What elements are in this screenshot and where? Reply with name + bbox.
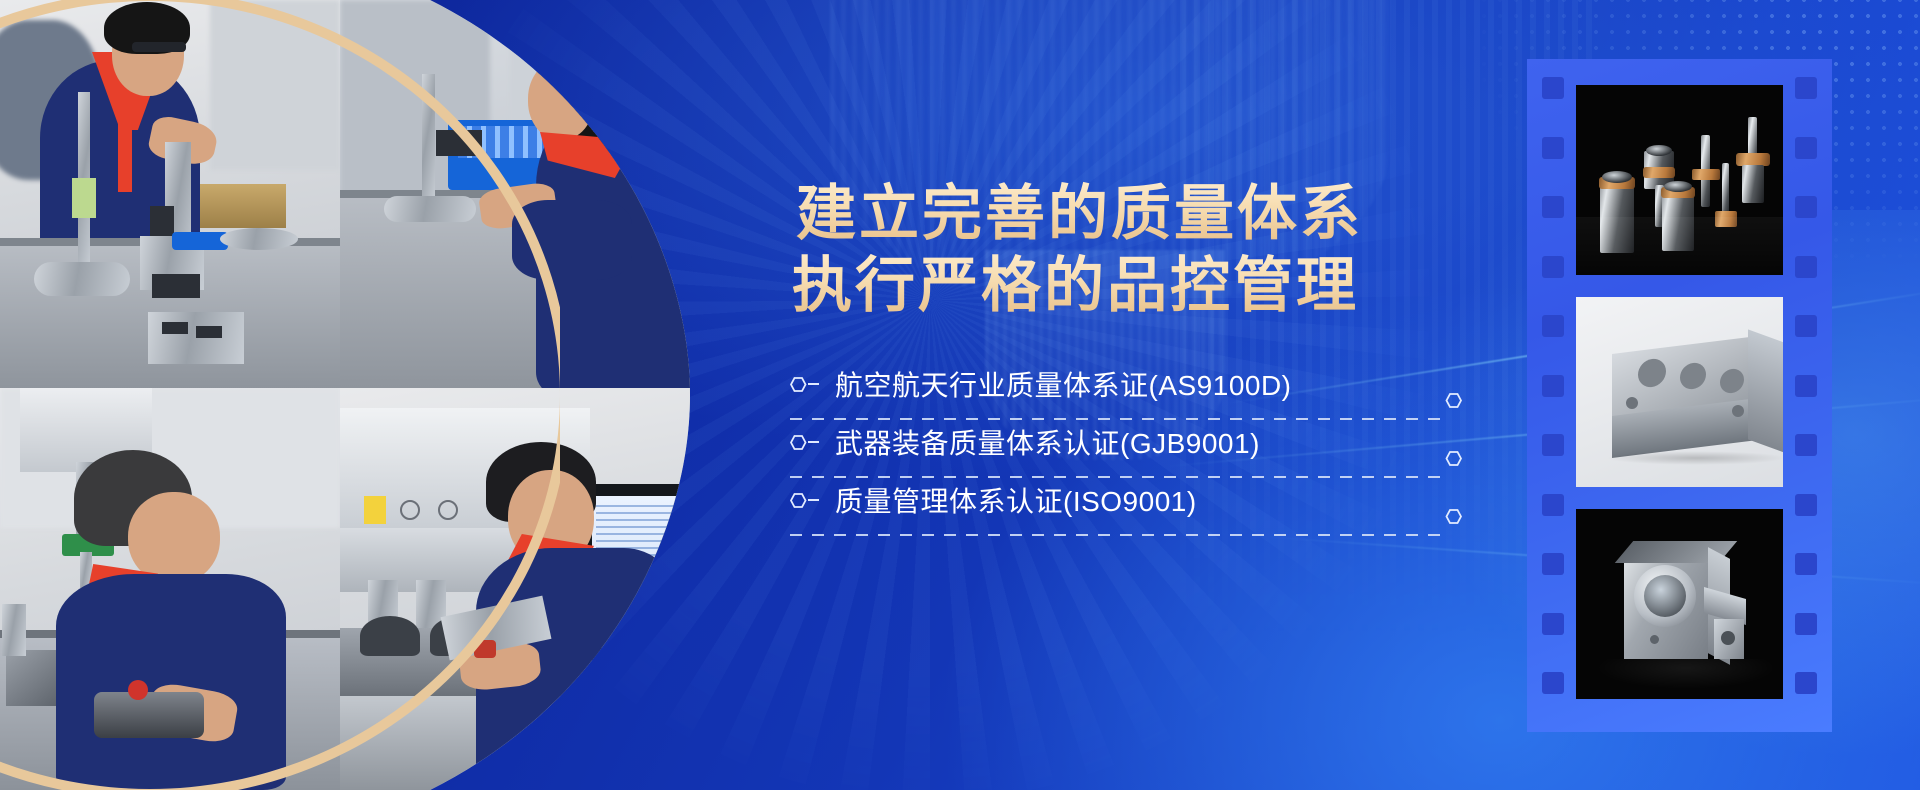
- photo-cmm-operator: [0, 388, 340, 790]
- photo-collage: [0, 0, 700, 790]
- hex-nut-icon: [790, 377, 807, 392]
- photo-cnc-operator: [340, 388, 700, 790]
- banner-headline: 建立完善的质量体系 执行严格的品控管理: [790, 178, 1430, 322]
- hex-nut-tail-icon: [808, 499, 819, 501]
- photo-inspector-female-measuring: [340, 0, 700, 388]
- certification-item: 质量管理体系认证(ISO9001): [790, 478, 1450, 536]
- hex-nut-end-icon: [1445, 509, 1462, 524]
- photo-inspector-height-gauge: [0, 0, 340, 388]
- hex-nut-tail-icon: [808, 441, 819, 443]
- product-aluminum-housing: [1576, 297, 1783, 487]
- hex-nut-end-icon: [1445, 451, 1462, 466]
- certification-divider: [790, 534, 1450, 536]
- filmstrip-perforations-right: [1786, 77, 1826, 714]
- gold-arc-decoration: [0, 0, 560, 790]
- certification-label: 航空航天行业质量体系证(AS9100D): [835, 364, 1292, 404]
- certification-label: 质量管理体系认证(ISO9001): [835, 480, 1197, 520]
- certification-label: 武器装备质量体系认证(GJB9001): [835, 422, 1260, 462]
- certification-item: 武器装备质量体系认证(GJB9001): [790, 420, 1450, 478]
- product-precision-tooling: [1576, 85, 1783, 275]
- hex-nut-tail-icon: [808, 383, 819, 385]
- headline-line-1: 建立完善的质量体系: [790, 178, 1430, 250]
- hex-nut-icon: [790, 435, 807, 450]
- hex-nut-end-icon: [1445, 393, 1462, 408]
- quality-system-banner: 建立完善的质量体系 执行严格的品控管理 航空航天行业质量体系证(AS9100D): [0, 0, 1920, 790]
- product-filmstrip: [1527, 59, 1832, 732]
- product-bearing-block: [1576, 509, 1783, 699]
- headline-line-2: 执行严格的品控管理: [790, 250, 1430, 322]
- certification-item: 航空航天行业质量体系证(AS9100D): [790, 362, 1450, 420]
- hex-nut-icon: [790, 493, 807, 508]
- filmstrip-perforations-left: [1533, 77, 1573, 714]
- certification-list: 航空航天行业质量体系证(AS9100D): [790, 362, 1450, 536]
- banner-text-block: 建立完善的质量体系 执行严格的品控管理 航空航天行业质量体系证(AS9100D): [790, 178, 1430, 536]
